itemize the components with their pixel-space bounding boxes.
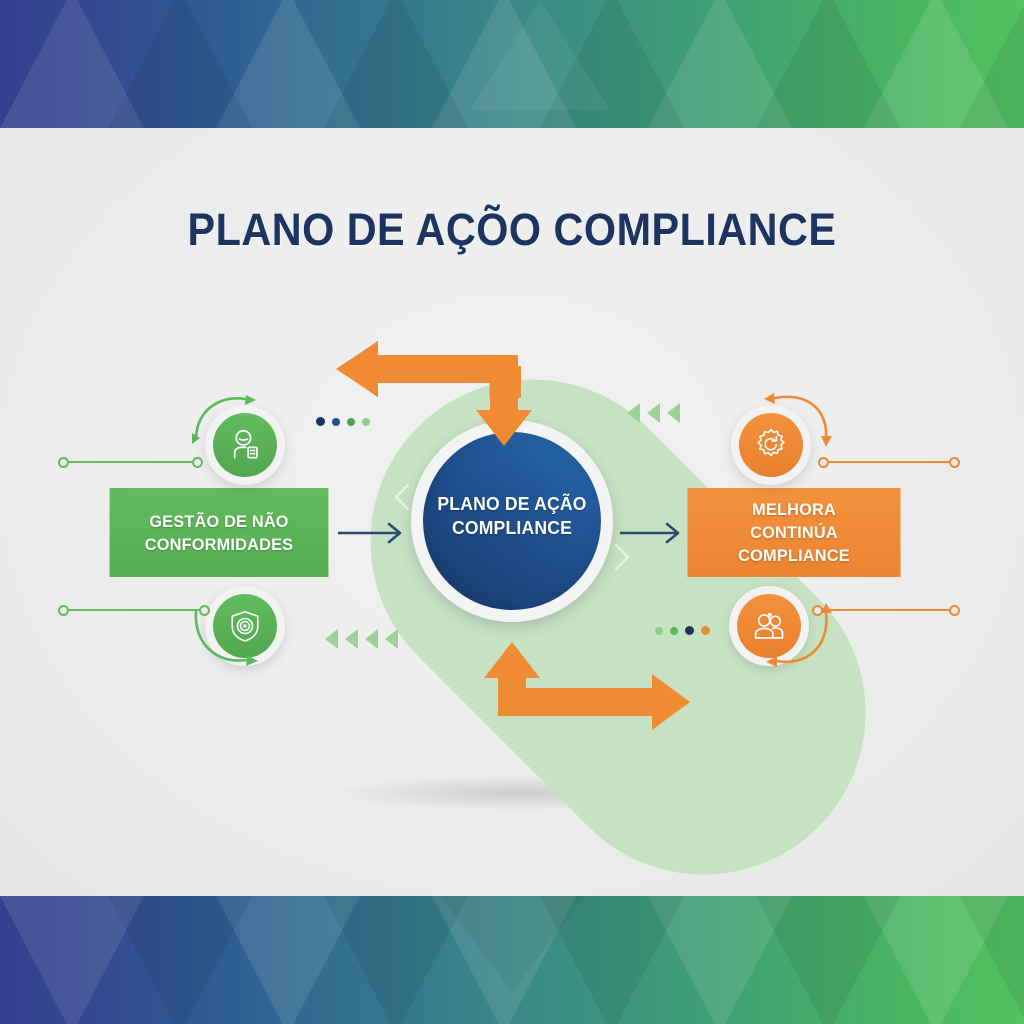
decor-triangle — [647, 403, 660, 423]
connector-endpoint-dot — [58, 457, 69, 468]
icon-badge-top-right[interactable] — [731, 405, 811, 485]
icon-badge-top-left[interactable] — [205, 405, 285, 485]
center-label-line2: COMPLIANCE — [452, 517, 572, 538]
shield-target-icon — [213, 594, 277, 658]
decor-dot — [332, 418, 340, 426]
center-circle-label: PLANO DE AÇÃO COMPLIANCE — [416, 492, 608, 540]
decor-triangle — [365, 629, 378, 649]
people-group-icon — [737, 594, 801, 658]
gear-refresh-icon — [739, 413, 803, 477]
connector-line-bottom-right — [812, 604, 960, 616]
bottom-band-triangles — [0, 896, 1024, 1024]
icon-badge-bottom-left[interactable] — [205, 586, 285, 666]
connector-bar — [69, 609, 199, 611]
box-right-line1: MELHORA — [752, 500, 836, 519]
decor-triangle — [627, 403, 640, 423]
connector-bar — [69, 461, 192, 463]
connector-endpoint-dot — [818, 457, 829, 468]
connector-bar — [823, 609, 949, 611]
decor-dot — [670, 627, 678, 635]
dot-cluster-left — [316, 417, 370, 426]
icon-badge-bottom-right[interactable] — [729, 586, 809, 666]
user-profile-icon — [213, 413, 277, 477]
decor-dot — [362, 418, 370, 426]
connector-endpoint-dot — [949, 605, 960, 616]
decor-dot — [701, 626, 710, 635]
triangle-cluster-right — [627, 403, 680, 423]
decor-dot — [655, 627, 663, 635]
center-label-line1: PLANO DE AÇÃO — [437, 493, 586, 514]
box-gestao-nao-conformidades[interactable]: GESTÃO DE NÃO CONFORMIDADES — [110, 488, 329, 577]
box-left-line1: GESTÃO DE NÃO — [149, 512, 288, 531]
decor-dot — [347, 418, 355, 426]
decor-triangle — [325, 629, 338, 649]
connector-line-top-left — [58, 456, 203, 468]
connector-endpoint-dot — [812, 605, 823, 616]
decor-triangle — [385, 629, 398, 649]
connector-line-top-right — [818, 456, 960, 468]
box-right-line2: CONTINÚA — [750, 523, 838, 542]
connector-endpoint-dot — [58, 605, 69, 616]
infographic-canvas: PLANO DE AÇÕO COMPLIANCE PLANO DE AÇÃO C… — [0, 0, 1024, 1024]
connector-line-bottom-left — [58, 604, 210, 616]
connector-endpoint-dot — [199, 605, 210, 616]
bottom-decorative-band — [0, 896, 1024, 1024]
connector-endpoint-dot — [949, 457, 960, 468]
decor-dot — [316, 417, 325, 426]
dot-cluster-right — [655, 626, 710, 635]
connector-bar — [829, 461, 949, 463]
box-left-line2: CONFORMIDADES — [145, 535, 293, 554]
box-right-line3: COMPLIANCE — [738, 546, 850, 565]
decor-triangle — [667, 403, 680, 423]
decor-dot — [685, 626, 694, 635]
decor-triangle — [345, 629, 358, 649]
box-melhora-continua-compliance[interactable]: MELHORA CONTINÚA COMPLIANCE — [687, 488, 900, 577]
triangle-cluster-left — [325, 629, 398, 649]
connector-endpoint-dot — [192, 457, 203, 468]
